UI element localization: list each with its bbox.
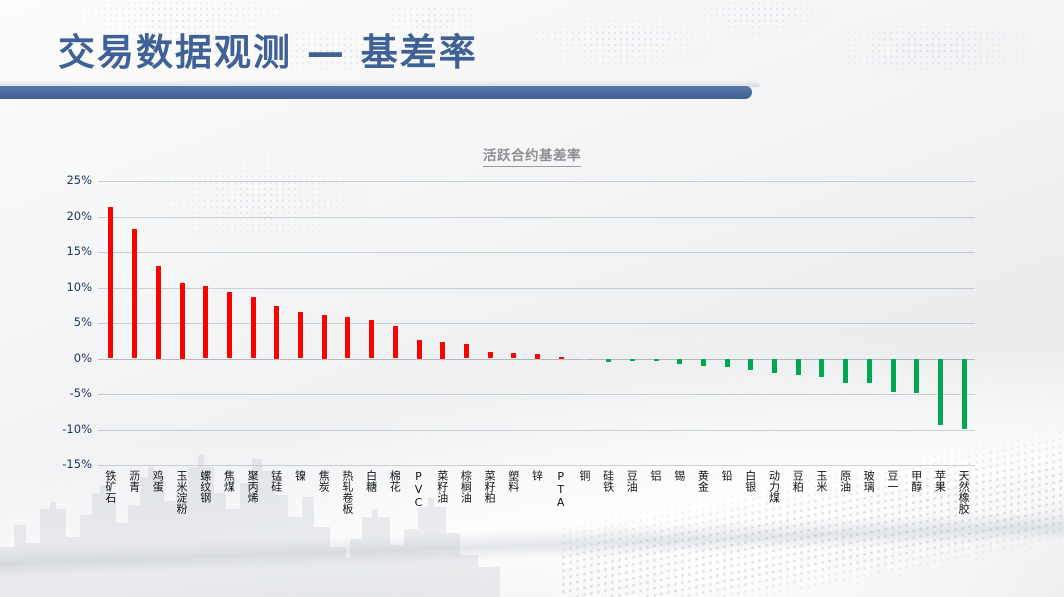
chart-title: 活跃合约基差率 [0,144,1064,164]
chart-bar [511,353,516,359]
y-axis-tick-label: -10% [36,422,92,436]
chart-bar [772,359,777,373]
chart-title-text: 活跃合约基差率 [483,148,581,167]
x-axis-tick-label: 锡 [674,470,685,481]
x-axis-tick-label: 沥青 [129,470,140,492]
y-axis-tick-label: -15% [36,457,92,471]
y-axis-tick-labels: 25%20%15%10%5%0%-5%-10%-15% [30,181,92,465]
basis-rate-bar-chart: 活跃合约基差率 25%20%15%10%5%0%-5%-10%-15% 铁矿石沥… [0,100,1064,597]
x-axis-tick-label: 棕榈油 [460,470,471,503]
x-axis-tick-label: 白银 [745,470,756,492]
chart-bar [322,315,327,359]
x-axis-tick-label: 镍 [295,470,306,481]
chart-bar [914,359,919,393]
gridline [98,181,975,182]
x-axis-tick-label: 菜籽粕 [484,470,495,503]
chart-bar [748,359,753,370]
x-axis-tick-label: 动力煤 [769,470,780,503]
chart-bar [464,344,469,359]
x-axis-tick-label: 锌 [532,470,543,481]
chart-bar [180,283,185,359]
x-axis-tick-label: 锰硅 [271,470,282,492]
gridline [98,430,975,431]
x-axis-tick-label: 豆油 [626,470,637,492]
x-axis-tick-label: 白糖 [366,470,377,492]
x-axis-tick-label: 黄金 [697,470,708,492]
x-axis-tick-label: 聚丙烯 [247,470,258,503]
chart-bar [440,342,445,359]
chart-bar [843,359,848,383]
chart-bar [819,359,824,378]
chart-bar [535,354,540,359]
y-axis-tick-label: 0% [36,351,92,365]
chart-bar [369,320,374,358]
chart-bar [108,207,113,359]
x-axis-tick-label: 天然橡胶 [958,470,969,514]
chart-bar [559,357,564,359]
chart-bar [393,326,398,359]
gridline [98,252,975,253]
page-title: 交易数据观测 — 基差率 [58,22,478,76]
x-axis-tick-label: 铅 [721,470,732,481]
chart-bar [345,317,350,358]
y-axis-tick-label: 20% [36,209,92,223]
x-axis-tick-label: 焦炭 [318,470,329,492]
gridline [98,394,975,395]
chart-bar [962,359,967,429]
x-axis-tick-label: 铁矿石 [105,470,116,503]
chart-bar [251,297,256,358]
chart-bar [227,292,232,359]
x-axis-tick-label: 玉米淀粉 [176,470,187,514]
chart-bar [417,340,422,359]
x-axis-tick-label: 豆一 [887,470,898,492]
x-axis-tick-label: 塑料 [508,470,519,492]
x-axis-tick-label: 焦煤 [223,470,234,492]
x-axis-tick-label: 螺纹钢 [200,470,211,503]
chart-bar [606,359,611,363]
x-axis-tick-label: 热轧卷板 [342,470,353,514]
x-axis-tick-label: 苹果 [934,470,945,492]
chart-bar [938,359,943,426]
x-axis-tick-label: 玻璃 [863,470,874,492]
gridline [98,465,975,466]
x-axis-tick-label: PTA [555,470,566,509]
chart-bar [630,359,635,362]
chart-bar [298,312,303,359]
gridline [98,288,975,289]
chart-bar [132,229,137,358]
y-axis-tick-label: -5% [36,386,92,400]
x-axis-tick-label: 原油 [840,470,851,492]
x-axis-tick-label: PVC [413,470,424,509]
chart-bar [725,359,730,368]
x-axis-tick-label: 玉米 [816,470,827,492]
x-axis-tick-label: 豆粕 [792,470,803,492]
gridline [98,217,975,218]
x-axis-tick-label: 硅铁 [603,470,614,492]
chart-bar [203,286,208,358]
chart-plot-area [98,181,975,465]
chart-bar [796,359,801,375]
y-axis-tick-label: 10% [36,280,92,294]
chart-bar [488,352,493,358]
x-axis-tick-label: 菜籽油 [437,470,448,503]
chart-bar [274,306,279,359]
x-axis-tick-label: 铜 [579,470,590,481]
x-axis-category-labels: 铁矿石沥青鸡蛋玉米淀粉螺纹钢焦煤聚丙烯锰硅镍焦炭热轧卷板白糖棉花PVC菜籽油棕榈… [98,470,998,590]
header-accent-bar [0,86,752,99]
chart-bar [156,266,161,359]
y-axis-tick-label: 5% [36,315,92,329]
chart-bar [654,359,659,361]
chart-bar [867,359,872,384]
slide-header: 交易数据观测 — 基差率 [0,0,1064,100]
x-axis-tick-label: 鸡蛋 [152,470,163,492]
x-axis-tick-label: 铝 [650,470,661,481]
chart-bar [701,359,706,366]
y-axis-tick-label: 15% [36,244,92,258]
x-axis-tick-label: 棉花 [389,470,400,492]
chart-bar [677,359,682,365]
x-axis-tick-label: 甲醇 [911,470,922,492]
chart-bar [891,359,896,392]
y-axis-tick-label: 25% [36,173,92,187]
